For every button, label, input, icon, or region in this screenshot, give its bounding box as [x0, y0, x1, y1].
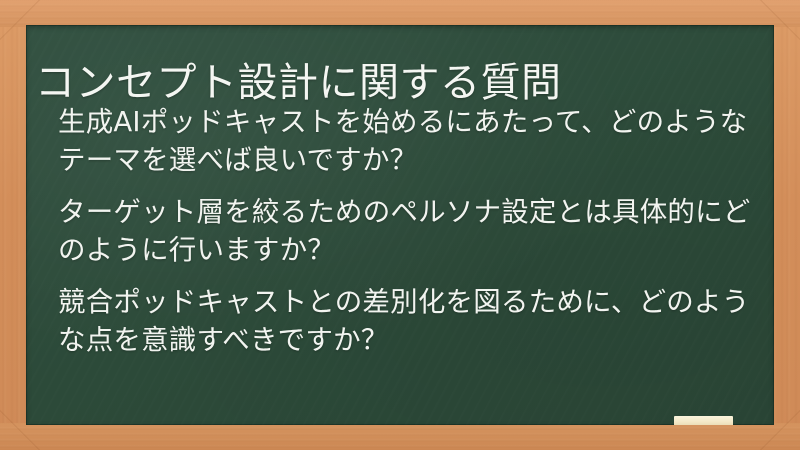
- question-list: 生成AIポッドキャストを始めるにあたって、どのようなテーマを選べば良いですか？ …: [58, 103, 758, 359]
- chalkboard-slide: コンセプト設計に関する質問 生成AIポッドキャストを始めるにあたって、どのような…: [0, 0, 800, 450]
- list-item: 競合ポッドキャストとの差別化を図るために、どのような点を意識すべきですか？: [58, 283, 758, 359]
- chalk-stick-icon: [674, 416, 733, 425]
- chalkboard-content: コンセプト設計に関する質問 生成AIポッドキャストを始めるにあたって、どのような…: [26, 25, 774, 425]
- list-item: ターゲット層を絞るためのペルソナ設定とは具体的にどのように行いますか？: [58, 193, 758, 269]
- page-title: コンセプト設計に関する質問: [35, 57, 755, 109]
- wooden-frame-bottom-rail: [0, 423, 800, 450]
- list-item: 生成AIポッドキャストを始めるにあたって、どのようなテーマを選べば良いですか？: [58, 103, 758, 179]
- chalkboard-surface: コンセプト設計に関する質問 生成AIポッドキャストを始めるにあたって、どのような…: [26, 25, 774, 425]
- wooden-frame-top-rail: [0, 0, 800, 27]
